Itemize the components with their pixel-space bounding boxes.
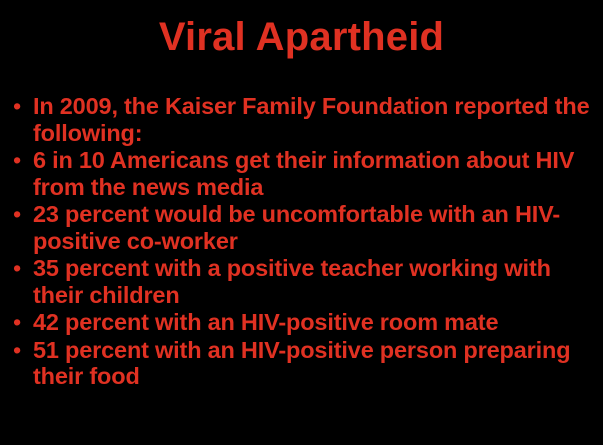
list-item-text: 42 percent with an HIV-positive room mat… [33,309,597,336]
list-item: • In 2009, the Kaiser Family Foundation … [0,93,603,146]
bullet-point-icon: • [13,337,23,364]
list-item: • 35 percent with a positive teacher wor… [0,255,603,308]
list-item: • 23 percent would be uncomfortable with… [0,201,603,254]
bullet-point-icon: • [13,309,23,336]
page-title: Viral Apartheid [0,13,603,61]
list-item: • 6 in 10 Americans get their informatio… [0,147,603,200]
list-item-text: 6 in 10 Americans get their information … [33,147,597,200]
list-item-text: In 2009, the Kaiser Family Foundation re… [33,93,597,146]
list-item: • 42 percent with an HIV-positive room m… [0,309,603,336]
list-item-text: 23 percent would be uncomfortable with a… [33,201,597,254]
bullet-point-icon: • [13,201,23,228]
list-item-text: 51 percent with an HIV-positive person p… [33,337,597,390]
bullet-point-icon: • [13,93,23,120]
slide-canvas: Viral Apartheid • In 2009, the Kaiser Fa… [0,0,603,445]
bullet-point-icon: • [13,255,23,282]
list-item-text: 35 percent with a positive teacher worki… [33,255,597,308]
bullet-point-icon: • [13,147,23,174]
list-item: • 51 percent with an HIV-positive person… [0,337,603,390]
bullet-list: • In 2009, the Kaiser Family Foundation … [0,93,603,391]
